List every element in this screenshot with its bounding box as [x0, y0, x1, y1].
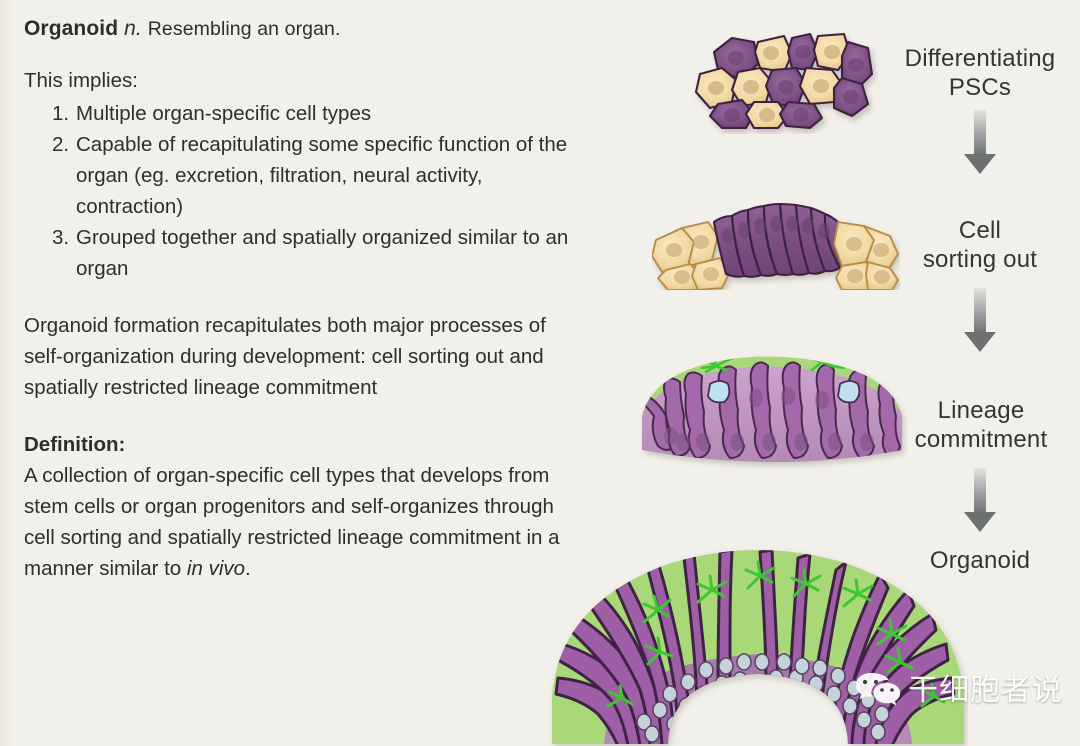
list-item-text: Multiple organ-specific cell types: [76, 102, 371, 125]
definition-body-main: A collection of organ-specific cell type…: [24, 464, 560, 580]
list-item: 3. Grouped together and spatially organi…: [24, 222, 584, 284]
flow-label-line: sorting out: [880, 245, 1080, 274]
wechat-icon: [855, 672, 901, 710]
flow-label-cell-sorting-out: Cell sorting out: [880, 216, 1080, 274]
flow-label-lineage-commitment: Lineage commitment: [876, 396, 1080, 454]
implies-intro: This implies:: [24, 66, 584, 96]
implies-list: 1. Multiple organ-specific cell types 2.…: [24, 98, 584, 284]
list-item-number: 3.: [52, 222, 76, 253]
flow-label-line: Lineage: [876, 396, 1080, 425]
list-item-text: Capable of recapitulating some specific …: [76, 133, 567, 218]
figure-organoid-arch: [548, 548, 968, 746]
definition-body: A collection of organ-specific cell type…: [24, 460, 584, 584]
definition-body-tail: .: [245, 557, 251, 580]
figure-lineage-arc: [636, 350, 908, 478]
flow-label-line: Cell: [880, 216, 1080, 245]
list-item: 1. Multiple organ-specific cell types: [24, 98, 584, 129]
flow-arrow-3: [958, 468, 1002, 534]
flow-label-line: commitment: [876, 425, 1080, 454]
flow-arrow-2: [958, 288, 1002, 354]
flow-label-line: Differentiating: [880, 44, 1080, 73]
in-vivo-italic: in vivo: [187, 557, 245, 580]
definition-heading: Definition:: [24, 429, 584, 460]
definition-headline: Organoid n. Resembling an organ.: [24, 14, 584, 44]
formation-paragraph: Organoid formation recapitulates both ma…: [24, 310, 584, 403]
definition-text-column: Organoid n. Resembling an organ. This im…: [24, 14, 584, 584]
part-of-speech: n.: [124, 17, 142, 40]
term-word: Organoid: [24, 17, 118, 40]
list-item: 2. Capable of recapitulating some specif…: [24, 129, 584, 222]
figure-sorted-arc: [652, 178, 900, 290]
watermark: 干细胞者说: [855, 672, 1063, 710]
list-item-number: 2.: [52, 129, 76, 160]
list-item-number: 1.: [52, 98, 76, 129]
figure-mixed-cell-cluster: [692, 22, 878, 134]
flow-label-differentiating-pscs: Differentiating PSCs: [880, 44, 1080, 102]
list-item-text: Grouped together and spatially organized…: [76, 226, 568, 280]
figure-canvas: Organoid n. Resembling an organ. This im…: [0, 0, 1080, 746]
flow-label-organoid: Organoid: [880, 546, 1080, 575]
flow-label-line: PSCs: [880, 73, 1080, 102]
left-edge-shading: [0, 0, 14, 746]
flow-label-line: Organoid: [880, 546, 1080, 575]
gloss-text: Resembling an organ.: [148, 18, 341, 40]
watermark-text: 干细胞者说: [908, 676, 1063, 706]
flow-arrow-1: [958, 110, 1002, 176]
